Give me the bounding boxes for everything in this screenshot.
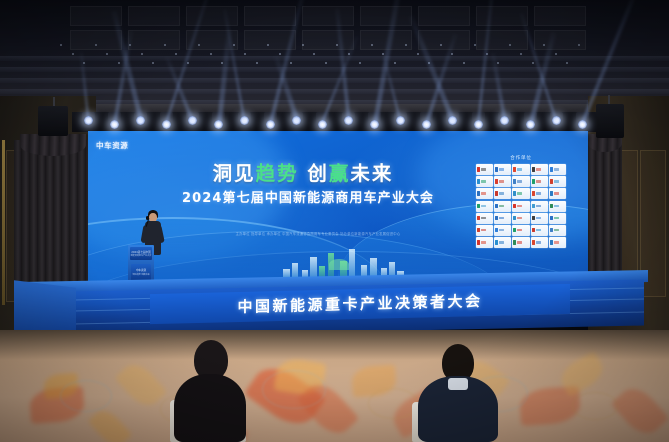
ceiling-light-dot [417, 53, 419, 55]
ceiling-coffer [128, 6, 180, 26]
sponsor-logo-tile [512, 237, 529, 248]
sponsor-logo-text [536, 229, 541, 232]
audience-member-left [172, 340, 248, 442]
sponsor-logo-text [554, 241, 559, 244]
ceiling-coffer [244, 6, 296, 26]
ceiling-beam [0, 78, 669, 83]
sponsor-logo-tile [494, 188, 511, 199]
ceiling-light-dot [141, 53, 143, 55]
stage-floor-shadow [0, 330, 669, 360]
sponsor-logo-mark [495, 167, 498, 172]
sponsor-logo-mark [550, 216, 553, 221]
sponsor-logo-text [517, 192, 522, 195]
sponsor-logo-mark [477, 179, 480, 184]
sponsor-logo-text [536, 205, 541, 208]
ceiling-light-dot [463, 62, 465, 64]
sponsor-logo-text [554, 180, 559, 183]
sponsor-logo-tile [512, 213, 529, 224]
sponsor-logo-text [554, 217, 559, 220]
ceiling-beam [0, 56, 669, 61]
ceiling-coffer [302, 30, 354, 50]
sponsor-logo-text [554, 205, 559, 208]
ceiling-light-dot [474, 44, 476, 46]
sponsor-logo-text [499, 205, 504, 208]
sponsor-logo-mark [477, 240, 480, 245]
carpet-swirl [572, 392, 618, 420]
ceiling-coffer [70, 30, 122, 50]
sponsor-logo-text [554, 229, 559, 232]
ceiling-light-dot [359, 62, 361, 64]
sponsor-logo-mark [477, 228, 480, 233]
sponsor-wall-title: 合作单位 [476, 155, 566, 161]
sponsor-logo-text [554, 168, 559, 171]
sponsor-logo-text [536, 217, 541, 220]
carpet-swirl [262, 370, 326, 409]
screen-brand-logo: 中车资源 [96, 140, 128, 151]
sponsor-logo-text [499, 180, 504, 183]
sponsor-logo-tile [549, 188, 566, 199]
ceiling-light-dot [520, 53, 522, 55]
sponsor-logo-tile [549, 237, 566, 248]
carpet-floral-motif [611, 381, 669, 441]
ceiling-coffer [534, 6, 586, 26]
audience-member-right [418, 344, 498, 442]
sponsor-logo-tile [512, 201, 529, 212]
sponsor-logo-tile [549, 164, 566, 175]
sponsor-logo-mark [550, 240, 553, 245]
ceiling-light-dot [497, 62, 499, 64]
audience-left-shoulders [174, 374, 246, 442]
ceiling-light-dot [95, 44, 97, 46]
sponsor-logo-tile [512, 188, 529, 199]
sponsor-logo-mark [532, 216, 535, 221]
ceiling-coffer [302, 6, 354, 26]
sponsor-logo-mark [495, 204, 498, 209]
ballroom-ceiling [0, 0, 669, 118]
sponsor-logo-mark [513, 179, 516, 184]
screen-organizer-line: 主办单位 指导单位 承办单位 中国汽车流通协会商用车专业委员会 协办单位新能源汽… [193, 231, 443, 236]
carpet-swirl [368, 388, 418, 419]
ceiling-light-dot [164, 44, 166, 46]
sponsor-logo-mark [513, 216, 516, 221]
sponsor-logo-mark [513, 191, 516, 196]
ceiling-beam [0, 67, 669, 72]
sponsor-logo-mark [550, 228, 553, 233]
ceiling-light-dot [440, 44, 442, 46]
ceiling-coffer [186, 6, 238, 26]
carpet-swirl [60, 380, 112, 412]
sponsor-logo-text [517, 229, 522, 232]
ceiling-light-dot [233, 44, 235, 46]
microphone-head [146, 216, 149, 220]
sponsor-logo-tile [512, 164, 529, 175]
ceiling-light-dot [72, 53, 74, 55]
ceiling-coffer [418, 6, 470, 26]
sponsor-logo-text [481, 205, 486, 208]
sponsor-logo-text [481, 241, 486, 244]
ceiling-light-dot [290, 62, 292, 64]
ceiling-light-dot [152, 62, 154, 64]
sponsor-logo-tile [531, 164, 548, 175]
sponsor-logo-text [499, 229, 504, 232]
sponsor-logo-tile [476, 213, 493, 224]
sponsor-logo-mark [477, 191, 480, 196]
podium-front-line: 中车资源 [131, 268, 151, 272]
sponsor-logo-text [481, 180, 486, 183]
conference-stage-photo: 中车资源 洞见趋势 创赢未来 2024第七届中国新能源商用车产业大会 主办单位 … [0, 0, 669, 442]
sponsor-logo-tile [531, 188, 548, 199]
headline-seg-2: 创 [299, 162, 329, 185]
ceiling-coffer [534, 30, 586, 50]
sponsor-logo-text [536, 180, 541, 183]
sponsor-logo-mark [550, 167, 553, 172]
ceiling-light-dot [566, 62, 568, 64]
ceiling-light-dot [256, 62, 258, 64]
sponsor-logo-text [481, 168, 486, 171]
sponsor-logo-tile [476, 201, 493, 212]
sponsor-logo-mark [550, 179, 553, 184]
sponsor-logo-tile [476, 164, 493, 175]
sponsor-logo-tile [476, 225, 493, 236]
ceiling-light-dot [325, 62, 327, 64]
ceiling-light-dot [532, 62, 534, 64]
ceiling-light-dot [210, 53, 212, 55]
ceiling-light-dot [509, 44, 511, 46]
sponsor-logo-text [499, 241, 504, 244]
sponsor-logo-mark [495, 228, 498, 233]
sponsor-logo-text [517, 241, 522, 244]
ceiling-light-dot [175, 53, 177, 55]
headline-accent-1: 趋势 [256, 162, 299, 185]
sponsor-logo-text [481, 192, 486, 195]
ceiling-light-dot [555, 53, 557, 55]
skyline-dome [329, 259, 349, 270]
ceiling-light-dot [313, 53, 315, 55]
ceiling-light-dot [405, 44, 407, 46]
sponsor-logo-mark [550, 204, 553, 209]
ceiling-light-dot [267, 44, 269, 46]
sponsor-logo-mark [532, 191, 535, 196]
ceiling-light-dot [60, 44, 62, 46]
sponsor-logo-mark [532, 240, 535, 245]
ceiling-light-dot [543, 44, 545, 46]
sponsor-logo-text [536, 168, 541, 171]
sponsor-logo-mark [532, 204, 535, 209]
sponsor-logo-text [536, 192, 541, 195]
headline-seg-1: 洞见 [213, 162, 256, 185]
ceiling-light-dot [106, 53, 108, 55]
sponsor-logo-mark [532, 228, 535, 233]
sponsor-logo-text [554, 192, 559, 195]
audience-right-collar [448, 378, 468, 390]
sponsor-logo-mark [513, 204, 516, 209]
headline-accent-2: 赢 [329, 162, 351, 185]
lighting-truss [72, 112, 602, 132]
carpet-floral-motif [114, 358, 167, 412]
sponsor-logo-mark [513, 240, 516, 245]
ceiling-coffer [128, 30, 180, 50]
sponsor-logo-text [517, 180, 522, 183]
ceiling-light-dot [394, 62, 396, 64]
sponsor-logo-tile [512, 176, 529, 187]
sponsor-logo-tile [476, 176, 493, 187]
sponsor-logo-mark [477, 167, 480, 172]
sponsor-logo-text [481, 217, 486, 220]
ceiling-coffer [360, 6, 412, 26]
sponsor-logo-text [499, 192, 504, 195]
sponsor-logo-mark [532, 167, 535, 172]
sponsor-logo-tile [549, 201, 566, 212]
sponsor-logo-mark [513, 167, 516, 172]
sponsor-wall: 合作单位 [476, 155, 566, 259]
sponsor-logo-text [517, 205, 522, 208]
sponsor-logo-tile [531, 201, 548, 212]
sponsor-logo-mark [477, 204, 480, 209]
stage-curtain-left [14, 140, 88, 300]
sponsor-logo-tile [494, 201, 511, 212]
sponsor-logo-text [517, 217, 522, 220]
sponsor-logo-tile [549, 213, 566, 224]
ceiling-light-dot [371, 44, 373, 46]
stage-front-banner-text: 中国新能源重卡产业决策者大会 [150, 288, 570, 319]
ceiling-light-dot [198, 44, 200, 46]
podium-front-panel: 中车资源 洞见趋势 创赢未来 [131, 264, 151, 281]
headline-seg-3: 未来 [350, 162, 393, 185]
curtain-swag-left [20, 134, 86, 156]
podium-front-sub: 洞见趋势 创赢未来 [131, 273, 151, 276]
skyline-building [349, 249, 355, 279]
sponsor-logo-text [499, 217, 504, 220]
ceiling-light-dot [336, 44, 338, 46]
ceiling-light-dot [279, 53, 281, 55]
sponsor-logo-tile [494, 176, 511, 187]
sponsor-logo-mark [495, 240, 498, 245]
ceiling-light-dot [244, 53, 246, 55]
sponsor-logo-mark [495, 191, 498, 196]
sponsor-logo-mark [550, 191, 553, 196]
podium-top-sub: 新能源商用车产业大会 [130, 254, 152, 257]
sponsor-logo-mark [532, 179, 535, 184]
sponsor-logo-mark [495, 216, 498, 221]
sponsor-logo-tile [476, 237, 493, 248]
screen-headline: 洞见趋势 创赢未来 [168, 157, 438, 186]
sponsor-logo-tile [476, 188, 493, 199]
sponsor-logo-tile [549, 176, 566, 187]
sponsor-logo-mark [495, 179, 498, 184]
sponsor-logo-tile [494, 213, 511, 224]
sponsor-logo-tile [494, 225, 511, 236]
sponsor-logo-tile [512, 225, 529, 236]
sponsor-logo-mark [513, 228, 516, 233]
sponsor-logo-tile [494, 164, 511, 175]
sponsor-logo-tile [531, 237, 548, 248]
hanging-speaker-right [596, 104, 624, 138]
ceiling-light-dot [302, 44, 304, 46]
sponsor-logo-mark [477, 216, 480, 221]
sponsor-logo-tile [531, 225, 548, 236]
ceiling-light-dot [118, 62, 120, 64]
podium-top-panel: 2024第七届中国 新能源商用车产业大会 [130, 247, 152, 260]
gold-trim-left [2, 140, 5, 305]
sponsor-logo-text [536, 241, 541, 244]
screen-subheadline: 2024第七届中国新能源商用车产业大会 [158, 187, 458, 206]
sponsor-logo-text [481, 229, 486, 232]
sponsor-logo-text [517, 168, 522, 171]
sponsor-logo-tile [531, 176, 548, 187]
sponsor-logo-tile [531, 213, 548, 224]
sponsor-logo-tile [494, 237, 511, 248]
ceiling-light-dot [578, 44, 580, 46]
sponsor-logo-text [499, 168, 504, 171]
hanging-speaker-left [38, 106, 68, 136]
sponsor-logo-grid [476, 164, 566, 248]
sponsor-logo-tile [549, 225, 566, 236]
